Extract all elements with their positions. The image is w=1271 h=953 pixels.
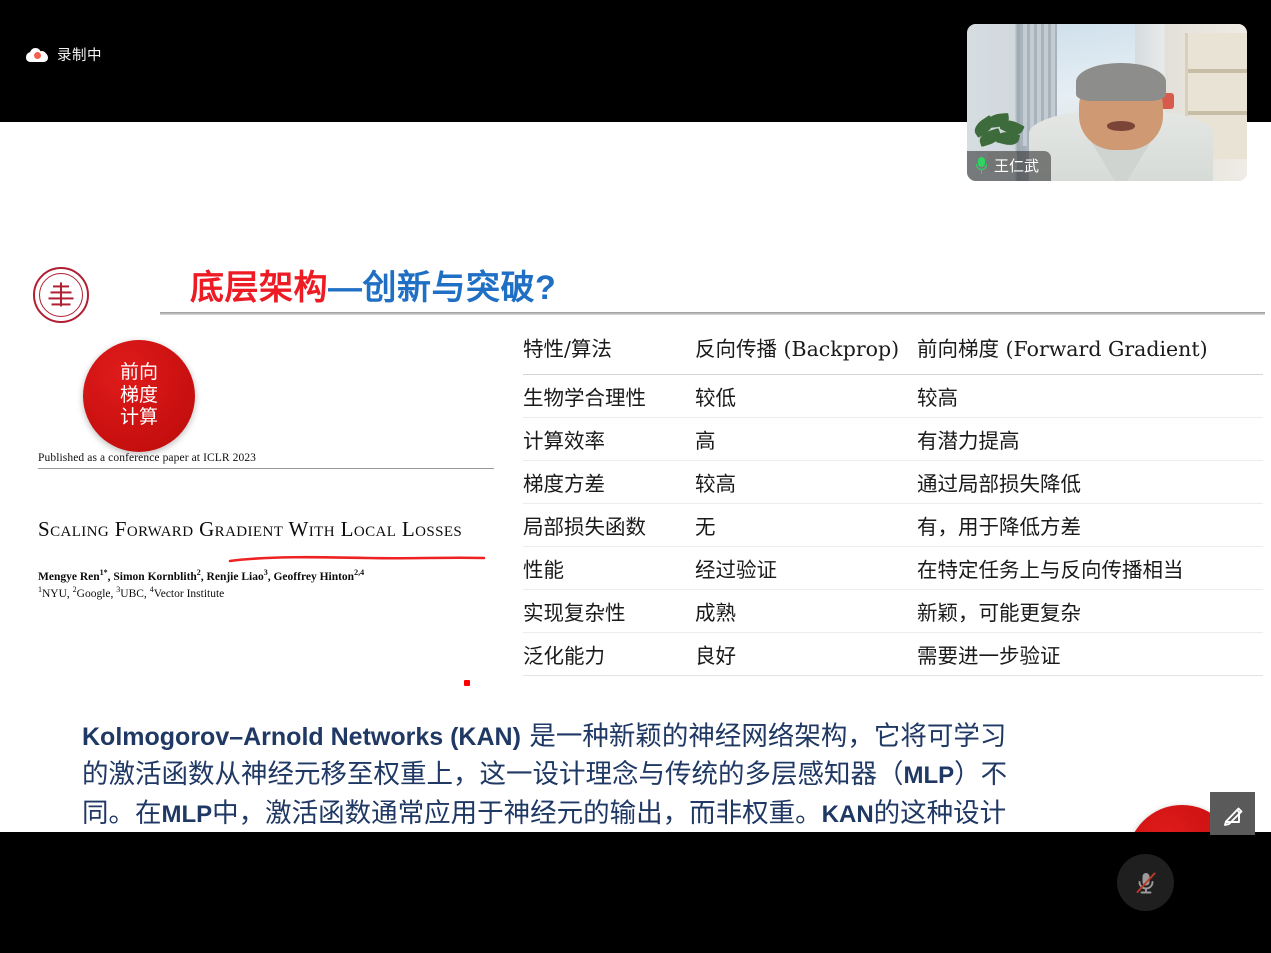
table-cell-backprop: 成熟 <box>695 590 917 633</box>
paper-affiliations: 1NYU, 2Google, 3UBC, 4Vector Institute <box>38 585 498 600</box>
page-title-blue: —创新与突破? <box>328 269 556 307</box>
table-cell-backprop: 良好 <box>695 633 917 676</box>
table-cell-backprop: 经过验证 <box>695 547 917 590</box>
paper-screenshot: Published as a conference paper at ICLR … <box>38 452 498 600</box>
table-cell-forward: 有，用于降低方差 <box>917 504 1263 547</box>
microphone-muted-icon <box>1131 868 1161 898</box>
shared-slide[interactable]: 底层架构—创新与突破? 前向 梯度 计算 KAN 架构 Published as… <box>0 122 1271 832</box>
badge-forward-gradient: 前向 梯度 计算 <box>83 340 195 452</box>
mute-toggle-button[interactable] <box>1117 854 1174 911</box>
table-cell-backprop: 无 <box>695 504 917 547</box>
participant-name: 王仁武 <box>994 155 1039 176</box>
cloud-record-icon <box>26 48 48 62</box>
table-cell-feature: 性能 <box>523 547 695 590</box>
kan-description-paragraph: Kolmogorov–Arnold Networks (KAN) 是一种新颖的神… <box>82 718 1027 832</box>
recording-indicator: 录制中 <box>26 44 102 65</box>
table-header-cell: 反向传播 (Backprop) <box>695 330 917 375</box>
paper-venue: Published as a conference paper at ICLR … <box>38 452 498 464</box>
table-cell-feature: 泛化能力 <box>523 633 695 676</box>
table-cell-forward: 有潜力提高 <box>917 418 1263 461</box>
microphone-on-icon <box>975 157 988 174</box>
annotate-tool-button[interactable] <box>1210 792 1255 835</box>
table-body: 生物学合理性 较低 较高 计算效率 高 有潜力提高 梯度方差 较高 通过局部损失… <box>523 375 1263 676</box>
table-row: 泛化能力 良好 需要进一步验证 <box>523 633 1263 676</box>
badge-line-3: 计算 <box>120 407 158 429</box>
recording-label: 录制中 <box>57 44 102 65</box>
paper-header-rule <box>38 468 494 469</box>
table-cell-feature: 梯度方差 <box>523 461 695 504</box>
table-row: 梯度方差 较高 通过局部损失降低 <box>523 461 1263 504</box>
table-cell-feature: 局部损失函数 <box>523 504 695 547</box>
table-header-cell: 前向梯度 (Forward Gradient) <box>917 330 1263 375</box>
page-title: 底层架构—创新与突破? <box>190 260 556 309</box>
table-cell-feature: 生物学合理性 <box>523 375 695 418</box>
table-cell-forward: 需要进一步验证 <box>917 633 1263 676</box>
pen-annotate-icon <box>1220 801 1246 827</box>
table-cell-forward: 在特定任务上与反向传播相当 <box>917 547 1263 590</box>
table-cell-feature: 实现复杂性 <box>523 590 695 633</box>
badge-line-2: 梯度 <box>120 385 158 407</box>
red-underline-annotation <box>228 555 486 564</box>
title-divider <box>160 312 1265 315</box>
table-cell-backprop: 较高 <box>695 461 917 504</box>
paper-authors: Mengye Ren1*, Simon Kornblith2, Renjie L… <box>38 568 498 583</box>
page-title-red: 底层架构 <box>190 269 328 307</box>
table-row: 实现复杂性 成熟 新颖，可能更复杂 <box>523 590 1263 633</box>
red-dot-annotation <box>464 680 470 686</box>
table-cell-forward: 较高 <box>917 375 1263 418</box>
table-row: 计算效率 高 有潜力提高 <box>523 418 1263 461</box>
paper-title: Scaling Forward Gradient With Local Loss… <box>38 517 498 542</box>
university-logo-icon <box>33 267 89 323</box>
table-row: 局部损失函数 无 有，用于降低方差 <box>523 504 1263 547</box>
meeting-screen-share-view: 录制中 <box>0 0 1271 953</box>
comparison-table: 特性/算法 反向传播 (Backprop) 前向梯度 (Forward Grad… <box>523 330 1263 676</box>
table-header-cell: 特性/算法 <box>523 330 695 375</box>
badge-line-1: 前向 <box>120 362 158 384</box>
table-header-row: 特性/算法 反向传播 (Backprop) 前向梯度 (Forward Grad… <box>523 330 1263 375</box>
table-cell-backprop: 较低 <box>695 375 917 418</box>
table-row: 性能 经过验证 在特定任务上与反向传播相当 <box>523 547 1263 590</box>
participant-name-badge: 王仁武 <box>967 151 1051 181</box>
table-cell-forward: 通过局部损失降低 <box>917 461 1263 504</box>
table-cell-backprop: 高 <box>695 418 917 461</box>
table-cell-forward: 新颖，可能更复杂 <box>917 590 1263 633</box>
participant-video-tile[interactable]: 王仁武 <box>967 24 1247 181</box>
table-row: 生物学合理性 较低 较高 <box>523 375 1263 418</box>
table-cell-feature: 计算效率 <box>523 418 695 461</box>
